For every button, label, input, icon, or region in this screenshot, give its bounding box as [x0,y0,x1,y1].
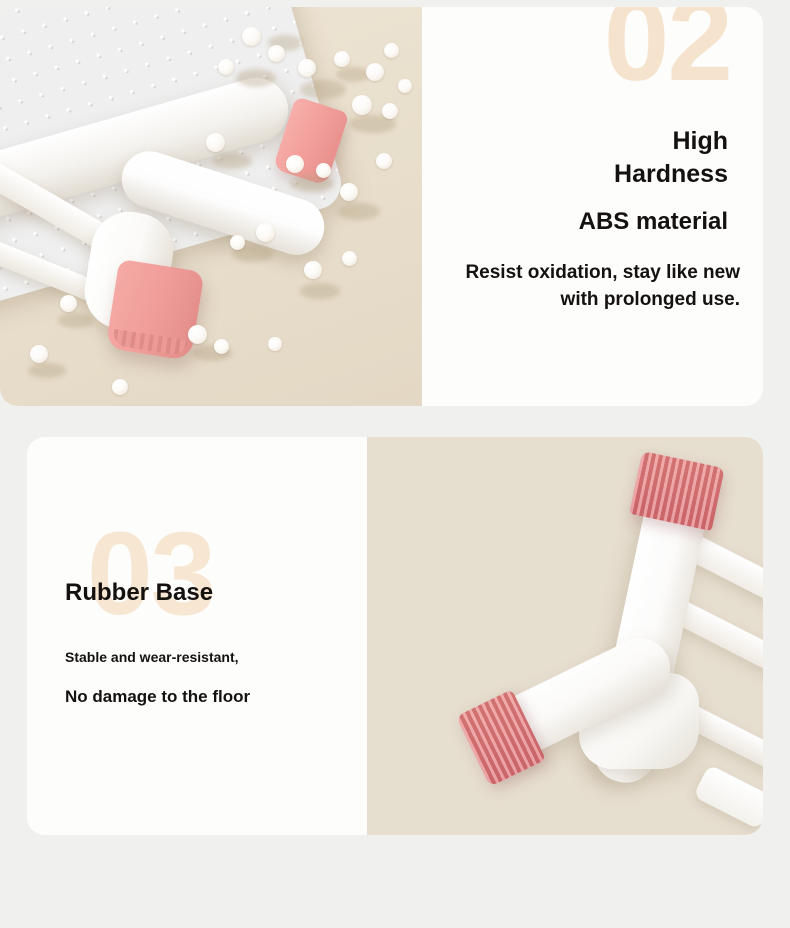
pearl-bead [352,95,372,115]
feature-subtitle-abs-material: ABS material [579,207,728,237]
pearl-shadow [300,283,340,299]
pearl-bead [268,337,282,351]
photo-scene-beige [0,7,422,406]
feature-card-high-hardness: 02 High Hardness ABS material Resist oxi… [0,7,763,406]
feature-number-watermark-03: 03 [87,515,214,633]
pearl-shadow [212,153,252,169]
pearl-shadow [28,363,66,378]
feature-title-line2: Hardness [614,160,728,188]
pearl-bead [384,43,399,58]
pearl-bead [340,183,358,201]
feature-text-pane-rubberbase: 03 Rubber Base Stable and wear-resistant… [27,437,367,835]
pearl-bead [206,133,225,152]
rubber-cap-pink-lower [105,259,204,361]
pearl-shadow [338,203,380,220]
pearl-shadow [336,67,370,82]
pearl-bead [268,45,285,62]
pearl-bead [316,163,331,178]
pearl-bead [286,155,304,173]
pearl-bead [30,345,48,363]
pearl-bead [376,153,392,169]
pearl-bead [342,251,357,266]
product-feature-infographic: 02 High Hardness ABS material Resist oxi… [0,0,790,928]
pearl-bead [398,79,412,93]
feature-title-line1: High [672,127,728,155]
feature-description-hardness: Resist oxidation, stay like new with pro… [440,260,740,314]
frame-foot-accent [693,764,763,830]
pearl-bead [214,339,229,354]
pearl-bead [218,59,234,75]
pearl-bead [230,235,245,250]
pearl-bead [304,261,322,279]
pearl-bead [242,27,261,46]
pearl-bead [112,379,128,395]
feature-title-high-hardness: High Hardness [498,125,728,190]
pearl-bead [382,103,398,119]
pearl-shadow [290,175,334,192]
pearl-shadow [58,313,94,328]
product-photo-leg-cap [0,7,422,406]
pearl-bead [366,63,384,81]
feature-number-watermark-02: 02 [604,7,731,99]
photo-scene-beige-flat [367,437,763,835]
pearl-bead [188,325,207,344]
feature-description-line2-rubberbase: No damage to the floor [65,687,250,707]
pearl-shadow [300,80,346,99]
feature-card-rubber-base: 03 Rubber Base Stable and wear-resistant… [27,437,763,835]
feature-text-pane-hardness: 02 High Hardness ABS material Resist oxi… [422,7,763,406]
pearl-bead [298,59,316,77]
feature-title-rubber-base: Rubber Base [65,579,213,608]
pearl-bead [60,295,77,312]
pearl-shadow [236,69,276,87]
product-photo-v-frame-feet [367,437,763,835]
feature-description-line1-rubberbase: Stable and wear-resistant, [65,649,239,665]
pearl-bead [256,223,275,242]
pearl-bead [334,51,350,67]
